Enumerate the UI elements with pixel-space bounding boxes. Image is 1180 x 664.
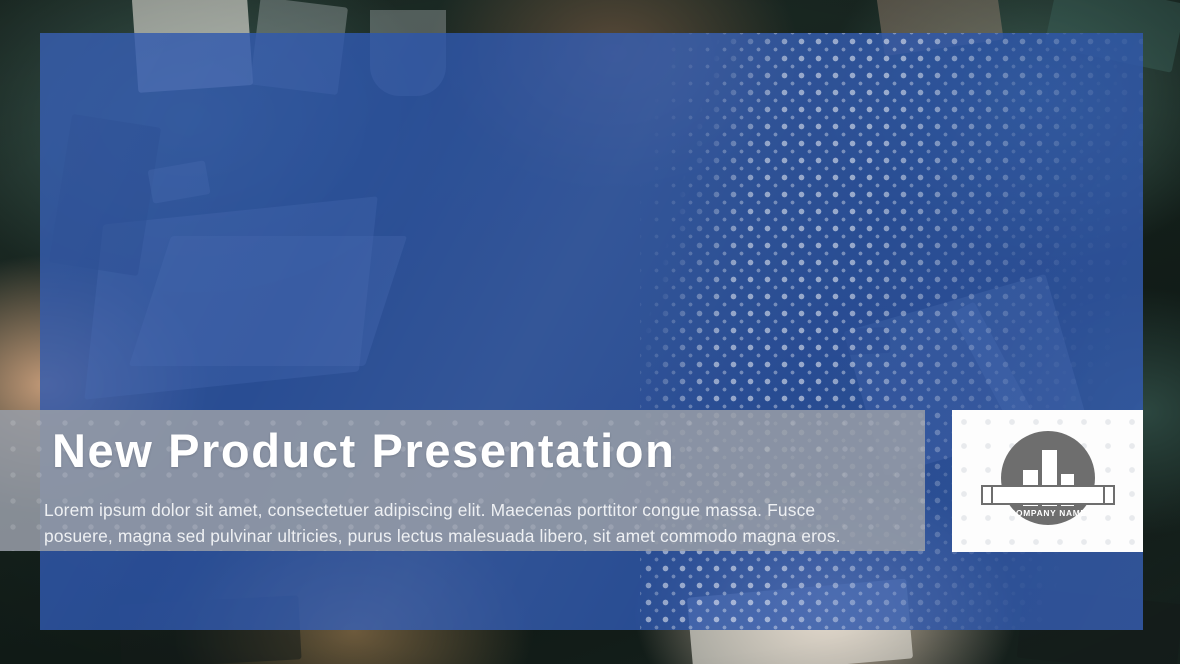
slide-subtitle: Lorem ipsum dolor sit amet, consectetuer… <box>44 497 864 550</box>
logo-company-name: COMPANY NAME <box>1009 508 1086 518</box>
presentation-slide: New Product Presentation Lorem ipsum dol… <box>0 0 1180 664</box>
company-logo-icon: COMPANY NAME <box>964 428 1132 534</box>
page-title: New Product Presentation <box>52 424 675 479</box>
logo-card: COMPANY NAME <box>952 410 1143 552</box>
